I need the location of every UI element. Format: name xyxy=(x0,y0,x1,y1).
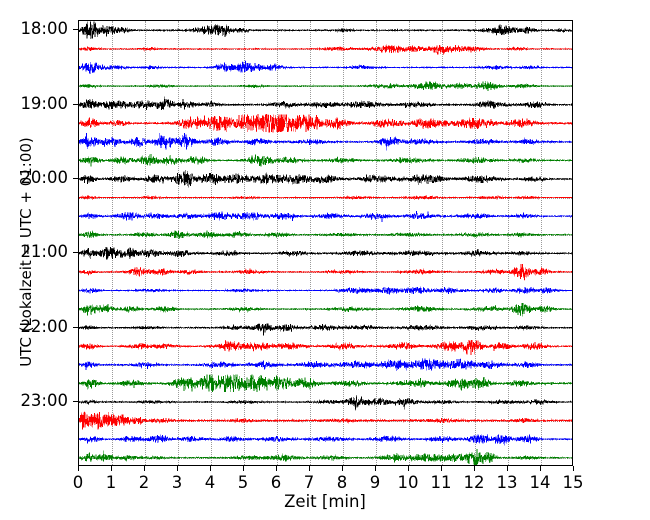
x-tick-mark xyxy=(342,466,343,471)
seismogram-trace xyxy=(79,154,573,166)
x-tick-mark xyxy=(507,466,508,471)
plot-area xyxy=(78,20,573,466)
y-axis-label: UTC (Lokalzeit = UTC + 01:00) xyxy=(17,122,35,382)
seismogram-trace xyxy=(79,303,573,317)
seismogram-trace xyxy=(79,61,573,74)
x-tick-mark xyxy=(144,466,145,471)
x-tick-mark xyxy=(540,466,541,471)
y-tick-mark xyxy=(73,327,78,328)
seismogram-trace xyxy=(79,211,573,222)
x-tick-mark xyxy=(441,466,442,471)
x-tick-mark xyxy=(210,466,211,471)
seismogram-trace xyxy=(79,358,573,371)
chart-figure: 012345678910111213141518:0019:0020:0021:… xyxy=(0,0,650,520)
seismogram-trace xyxy=(79,22,573,39)
x-tick-mark xyxy=(408,466,409,471)
x-tick-mark xyxy=(573,466,574,471)
x-tick-mark xyxy=(78,466,79,471)
x-tick-mark xyxy=(111,466,112,471)
seismogram-trace xyxy=(79,412,573,429)
seismogram-trace xyxy=(79,81,573,91)
y-tick-label: 23:00 xyxy=(0,392,68,409)
trace-svg xyxy=(79,21,573,466)
x-tick-mark xyxy=(177,466,178,471)
x-tick-mark xyxy=(276,466,277,471)
x-tick-mark xyxy=(474,466,475,471)
seismogram-trace xyxy=(79,170,573,187)
x-tick-mark xyxy=(309,466,310,471)
seismogram-trace xyxy=(79,230,573,238)
seismogram-trace xyxy=(79,287,573,295)
seismogram-trace xyxy=(79,340,573,355)
seismogram-trace xyxy=(79,434,573,445)
x-tick-mark xyxy=(375,466,376,471)
y-tick-mark xyxy=(73,401,78,402)
seismogram-traces xyxy=(79,21,572,465)
y-tick-mark xyxy=(73,104,78,105)
seismogram-trace xyxy=(79,395,573,410)
y-tick-mark xyxy=(73,252,78,253)
seismogram-trace xyxy=(79,196,573,200)
x-tick-mark xyxy=(243,466,244,471)
seismogram-trace xyxy=(79,264,573,280)
seismogram-trace xyxy=(79,247,573,260)
x-axis-label: Zeit [min] xyxy=(0,492,650,511)
seismogram-trace xyxy=(79,114,573,131)
x-tick-label: 15 xyxy=(553,474,593,491)
seismogram-trace xyxy=(79,133,573,150)
seismogram-trace xyxy=(79,375,573,392)
seismogram-trace xyxy=(79,97,573,110)
seismogram-trace xyxy=(79,449,573,466)
y-tick-label: 18:00 xyxy=(0,20,68,37)
seismogram-trace xyxy=(79,45,573,55)
seismogram-trace xyxy=(79,323,573,335)
y-tick-mark xyxy=(73,29,78,30)
y-tick-label: 19:00 xyxy=(0,95,68,112)
y-tick-mark xyxy=(73,178,78,179)
